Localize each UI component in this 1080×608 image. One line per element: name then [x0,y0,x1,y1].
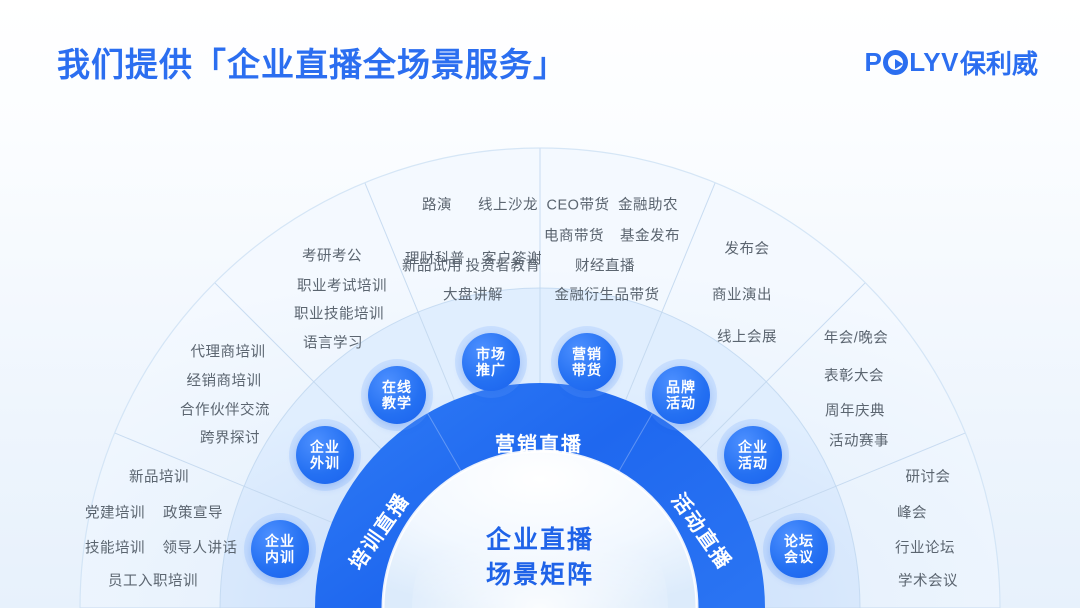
scene-label: 路演 [422,194,452,215]
scene-label: 职业技能培训 [294,303,384,324]
scene-label: CEO带货 [547,194,610,215]
scene-label: 领导人讲话 [163,537,238,558]
scene-label: 财经直播 [575,255,635,276]
core-title-line2: 场景矩阵 [486,558,594,593]
scene-label: 基金发布 [620,225,680,246]
scene-label: 新品培训 [129,466,189,487]
scene-label: 新品试用 [402,255,462,276]
scene-label: 政策宣导 [163,502,223,523]
scene-label: 行业论坛 [895,537,955,558]
badge-internal-training[interactable]: 企业内训 [251,520,309,578]
badge-enterprise-activity[interactable]: 企业活动 [724,426,782,484]
scene-label: 党建培训 [85,502,145,523]
badge-online-teaching[interactable]: 在线教学 [368,366,426,424]
scene-label: 代理商培训 [191,341,266,362]
badge-external-training[interactable]: 企业外训 [296,426,354,484]
scene-label: 跨界探讨 [200,427,260,448]
core-title: 企业直播 场景矩阵 [486,523,594,593]
scene-label: 考研考公 [302,245,362,266]
badge-forum-meeting[interactable]: 论坛会议 [770,520,828,578]
scene-label: 金融衍生品带货 [555,284,660,305]
scene-label: 发布会 [725,238,770,259]
scene-label: 语言学习 [303,332,363,353]
scene-label: 周年庆典 [825,400,885,421]
badge-market-promotion[interactable]: 市场推广 [462,333,520,391]
scene-label: 电商带货 [544,225,604,246]
scene-label: 年会/晚会 [824,327,889,348]
scene-label: 员工入职培训 [108,570,198,591]
scene-label: 表彰大会 [824,365,884,386]
scene-label: 技能培训 [85,537,145,558]
scene-label: 大盘讲解 [443,284,503,305]
scene-label: 商业演出 [712,284,772,305]
scene-label: 线上沙龙 [478,194,538,215]
ring-label-marketing: 营销直播 [495,428,583,457]
scene-label: 线上会展 [717,326,777,347]
scene-label: 投资者教育 [466,255,541,276]
scene-label: 金融助农 [618,194,678,215]
badge-brand-activity[interactable]: 品牌活动 [652,366,710,424]
scene-label: 峰会 [897,502,927,523]
scene-label: 经销商培训 [187,370,262,391]
scene-label: 活动赛事 [829,430,889,451]
scene-label: 合作伙伴交流 [180,399,270,420]
scene-label: 学术会议 [898,570,958,591]
badge-marketing-sales[interactable]: 营销带货 [558,333,616,391]
scene-label: 研讨会 [906,466,951,487]
slide-canvas: 我们提供「企业直播全场景服务」 PLYV 保利威 [0,0,1080,608]
scene-label: 职业考试培训 [297,275,387,296]
core-title-line1: 企业直播 [486,523,594,558]
